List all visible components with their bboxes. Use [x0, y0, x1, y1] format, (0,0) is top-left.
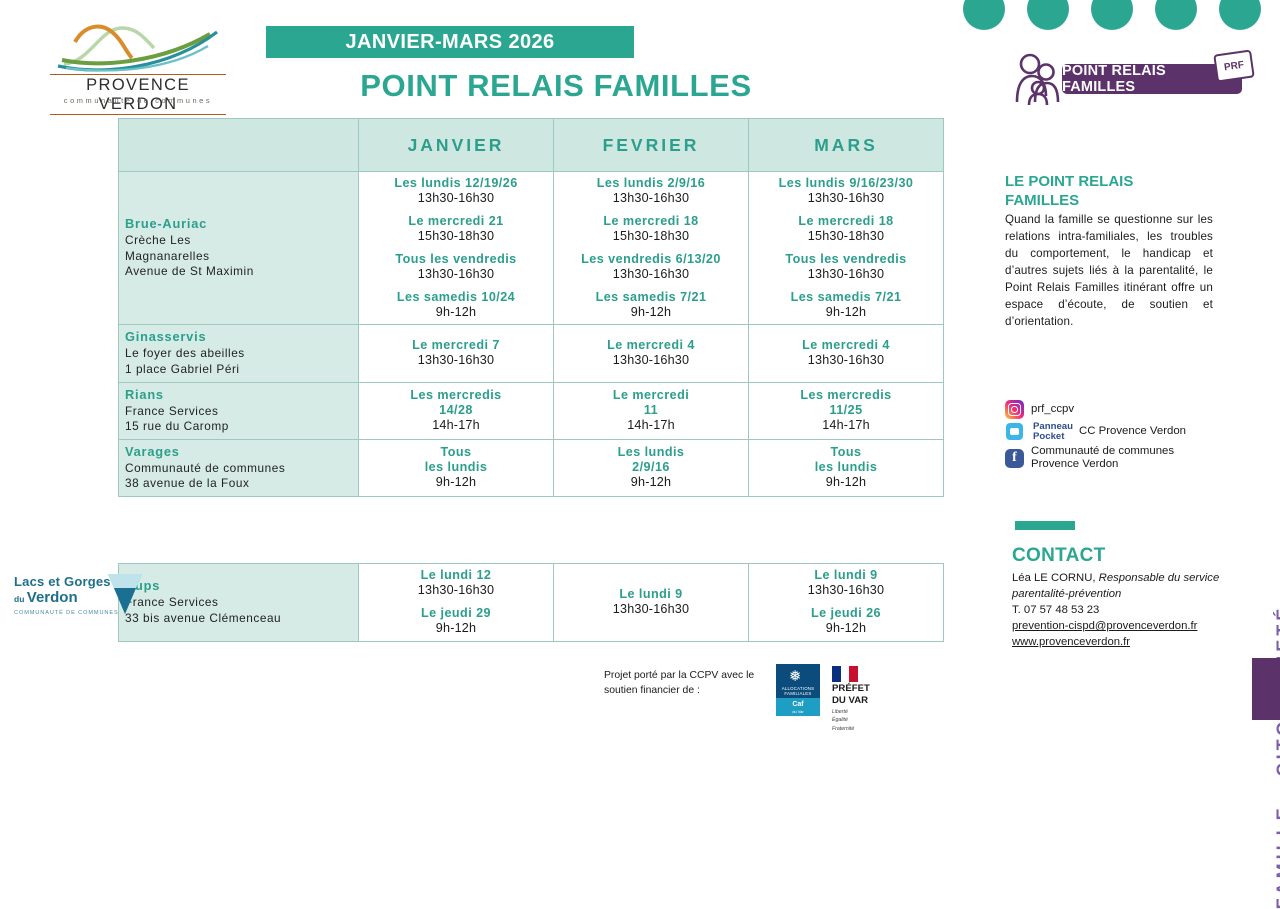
location-town: Rians: [125, 387, 352, 402]
table-row: AupsFrance Services33 bis avenue Clémenc…: [119, 564, 944, 642]
social-row-instagram[interactable]: prf_ccpv: [1005, 400, 1235, 419]
social-label: Communauté de communes Provence Verdon: [1031, 445, 1174, 473]
family-icon: [1010, 52, 1070, 108]
vertical-tagline: FAMILLE - CITOYENNETÉ: [1274, 605, 1280, 909]
slot-day: Le jeudi 26: [755, 606, 937, 621]
slot-day: Tous les vendredis: [365, 252, 547, 267]
prf-tag: PRF: [1213, 49, 1255, 82]
social-row-facebook[interactable]: f Communauté de communes Provence Verdon: [1005, 445, 1235, 473]
schedule-cell: Le mercredi 1114h-17h: [554, 382, 749, 439]
location-town: Brue-Auriac: [125, 216, 352, 231]
slot-hours: 13h30-16h30: [560, 191, 742, 207]
schedule-cell: Le mercredi 413h30-16h30: [749, 325, 944, 382]
slot-day: Le mercredi 4: [755, 338, 937, 353]
purple-accent-block: [1252, 658, 1280, 720]
slot-hours: 13h30-16h30: [560, 353, 742, 369]
schedule-slot: Le mercredi 1815h30-18h30: [560, 214, 742, 245]
schedule-slot: Le mercredi 413h30-16h30: [755, 338, 937, 369]
slot-hours: 13h30-16h30: [560, 602, 742, 618]
location-address-line: France Services: [125, 404, 352, 420]
location-address-line: 38 avenue de la Foux: [125, 476, 352, 492]
schedule-slot: Le lundi 913h30-16h30: [560, 587, 742, 618]
schedule-slot: Le mercredi 1815h30-18h30: [755, 214, 937, 245]
schedule-table: JANVIERFEVRIERMARSBrue-AuriacCrèche LesM…: [118, 118, 944, 497]
schedule-slot: Les mercredis 14/2814h-17h: [365, 388, 547, 434]
slot-day: Les lundis 2/9/16: [560, 445, 742, 475]
page-title: POINT RELAIS FAMILLES: [266, 68, 846, 104]
poster-page: PROVENCE VERDON communauté de communes J…: [0, 0, 1280, 720]
slot-hours: 13h30-16h30: [365, 583, 547, 599]
pp-word-2: Pocket: [1033, 432, 1073, 442]
dot-circle: [963, 0, 1005, 30]
schedule-slot: Tous les vendredis13h30-16h30: [755, 252, 937, 283]
caf-top-text: ALLOCATIONS FAMILIALES: [776, 686, 820, 696]
schedule-cell: Les mercredis 11/2514h-17h: [749, 382, 944, 439]
header-cell-month: JANVIER: [359, 119, 554, 172]
slot-hours: 14h-17h: [365, 418, 547, 434]
schedule-cell: Le lundi 1213h30-16h30Le jeudi 299h-12h: [359, 564, 554, 642]
slot-hours: 9h-12h: [755, 305, 937, 321]
schedule-slot: Les lundis 2/9/169h-12h: [560, 445, 742, 491]
location-address-line: 1 place Gabriel Péri: [125, 362, 352, 378]
slot-day: Les samedis 10/24: [365, 290, 547, 305]
provence-verdon-logo: PROVENCE VERDON communauté de communes: [42, 18, 232, 104]
lacs-gorges-verdon-logo: Lacs et Gorges du Verdon COMMUNAUTÉ DE C…: [6, 566, 134, 628]
schedule-slot: Les samedis 7/219h-12h: [755, 290, 937, 321]
social-label: CC Provence Verdon: [1079, 425, 1186, 439]
contact-title: CONTACT: [1012, 545, 1106, 567]
caf-sub: du Var: [776, 709, 820, 714]
location-cell: Brue-AuriacCrèche LesMagnanarellesAvenue…: [119, 172, 359, 325]
slot-day: Tous les lundis: [755, 445, 937, 475]
lgv-du: du: [14, 594, 24, 604]
french-flag-icon: [832, 666, 858, 682]
prefet-line-1: PRÉFET: [832, 684, 904, 694]
slot-day: Le mercredi 7: [365, 338, 547, 353]
slot-hours: 13h30-16h30: [755, 267, 937, 283]
table-row: VaragesCommunauté de communes38 avenue d…: [119, 439, 944, 496]
schedule-cell: Tous les lundis9h-12h: [749, 439, 944, 496]
contact-phone: T. 07 57 48 53 23: [1012, 604, 1099, 616]
slot-day: Le mercredi 18: [560, 214, 742, 229]
contact-accent-bar: [1015, 521, 1075, 530]
schedule-slot: Tous les vendredis13h30-16h30: [365, 252, 547, 283]
location-cell: AupsFrance Services33 bis avenue Clémenc…: [119, 564, 359, 642]
slot-hours: 9h-12h: [755, 621, 937, 637]
slot-day: Les vendredis 6/13/20: [560, 252, 742, 267]
slot-hours: 9h-12h: [560, 475, 742, 491]
dot-circle: [1027, 0, 1069, 30]
schedule-slot: Les mercredis 11/2514h-17h: [755, 388, 937, 434]
dot-circle: [1091, 0, 1133, 30]
hills-swoosh-icon: [42, 18, 232, 76]
social-row-panneaupocket[interactable]: Panneau Pocket CC Provence Verdon: [1005, 422, 1235, 442]
location-town: Aups: [125, 578, 352, 593]
decorative-dots: [963, 0, 1261, 30]
prefet-motto-3: Fraternité: [832, 726, 904, 733]
slot-hours: 9h-12h: [365, 475, 547, 491]
slot-hours: 13h30-16h30: [365, 353, 547, 369]
schedule-slot: Le jeudi 269h-12h: [755, 606, 937, 637]
slot-day: Les samedis 7/21: [560, 290, 742, 305]
slot-day: Le mercredi 21: [365, 214, 547, 229]
dot-circle: [1219, 0, 1261, 30]
social-label: prf_ccpv: [1031, 403, 1074, 417]
slot-day: Les samedis 7/21: [755, 290, 937, 305]
snowflake-icon: ❅: [789, 669, 807, 685]
prefet-du-var-logo: PRÉFET DU VAR Liberté Égalité Fraternité: [832, 666, 904, 732]
slot-day: Tous les lundis: [365, 445, 547, 475]
panneaupocket-icon: [1005, 422, 1024, 441]
schedule-cell: Le mercredi 713h30-16h30: [359, 325, 554, 382]
schedule-cell: Les lundis 2/9/169h-12h: [554, 439, 749, 496]
prefet-line-2: DU VAR: [832, 696, 904, 706]
location-address-line: Magnanarelles: [125, 249, 352, 265]
slot-hours: 9h-12h: [755, 475, 937, 491]
location-address-line: France Services: [125, 595, 352, 611]
logo-subtitle: communauté de communes: [50, 96, 226, 105]
schedule-cell: Les lundis 12/19/2613h30-16h30Le mercred…: [359, 172, 554, 325]
right-column-body: Quand la famille se questionne sur les r…: [1005, 212, 1213, 330]
slot-day: Tous les vendredis: [755, 252, 937, 267]
slot-hours: 13h30-16h30: [560, 267, 742, 283]
slot-hours: 14h-17h: [560, 418, 742, 434]
slot-day: Le mercredi 4: [560, 338, 742, 353]
location-address-line: Crèche Les: [125, 233, 352, 249]
slot-hours: 15h30-18h30: [560, 229, 742, 245]
schedule-slot: Tous les lundis9h-12h: [365, 445, 547, 491]
lgv-line-2: du Verdon: [14, 589, 78, 606]
schedule-cell: Le lundi 913h30-16h30: [554, 564, 749, 642]
slot-hours: 15h30-18h30: [365, 229, 547, 245]
slot-day: Le lundi 12: [365, 568, 547, 583]
slot-day: Le mercredi 18: [755, 214, 937, 229]
slot-hours: 13h30-16h30: [365, 267, 547, 283]
location-town: Varages: [125, 444, 352, 459]
schedule-cell: Le mercredi 413h30-16h30: [554, 325, 749, 382]
schedule-cell: Les mercredis 14/2814h-17h: [359, 382, 554, 439]
slot-day: Le lundi 9: [560, 587, 742, 602]
table-row: RiansFrance Services15 rue du CarompLes …: [119, 382, 944, 439]
location-address-line: Le foyer des abeilles: [125, 346, 352, 362]
instagram-icon: [1005, 400, 1024, 419]
slot-day: Les lundis 9/16/23/30: [755, 176, 937, 191]
caf-logo: ❅ ALLOCATIONS FAMILIALES Caf du Var: [776, 664, 820, 716]
contact-website[interactable]: www.provenceverdon.fr: [1012, 634, 1237, 650]
schedule-slot: Le mercredi 1114h-17h: [560, 388, 742, 434]
schedule-slot: Le mercredi 413h30-16h30: [560, 338, 742, 369]
slot-hours: 15h30-18h30: [755, 229, 937, 245]
slot-day: Les lundis 12/19/26: [365, 176, 547, 191]
dot-circle: [1155, 0, 1197, 30]
prefet-motto-2: Égalité: [832, 717, 904, 724]
schedule-slot: Tous les lundis9h-12h: [755, 445, 937, 491]
schedule-slot: Le jeudi 299h-12h: [365, 606, 547, 637]
location-cell: GinasservisLe foyer des abeilles1 place …: [119, 325, 359, 382]
slot-hours: 13h30-16h30: [365, 191, 547, 207]
schedule-slot: Les samedis 10/249h-12h: [365, 290, 547, 321]
slot-hours: 14h-17h: [755, 418, 937, 434]
location-address-line: Communauté de communes: [125, 461, 352, 477]
slot-day: Le lundi 9: [755, 568, 937, 583]
schedule-cell: Les lundis 9/16/23/3013h30-16h30Le mercr…: [749, 172, 944, 325]
table-header-row: JANVIERFEVRIERMARS: [119, 119, 944, 172]
schedule-slot: Les samedis 7/219h-12h: [560, 290, 742, 321]
funders-block: Projet porté par la CCPV avec le soutien…: [604, 666, 904, 716]
contact-name: Léa LE CORNU,: [1012, 572, 1096, 584]
table-row: Brue-AuriacCrèche LesMagnanarellesAvenue…: [119, 172, 944, 325]
location-address-line: 15 rue du Caromp: [125, 419, 352, 435]
slot-hours: 9h-12h: [365, 621, 547, 637]
prf-logo: POINT RELAIS FAMILLES PRF: [1010, 52, 1248, 108]
location-address-line: Avenue de St Maximin: [125, 264, 352, 280]
facebook-icon: f: [1005, 449, 1024, 468]
slot-day: Les mercredis 14/28: [365, 388, 547, 418]
date-band: JANVIER-MARS 2026: [266, 26, 634, 58]
slot-day: Le mercredi 11: [560, 388, 742, 418]
header-cell-month: MARS: [749, 119, 944, 172]
header-cell-blank: [119, 119, 359, 172]
slot-hours: 13h30-16h30: [755, 583, 937, 599]
lgv-line-3: COMMUNAUTÉ DE COMMUNES: [14, 610, 119, 616]
header-cell-month: FEVRIER: [554, 119, 749, 172]
slot-day: Les lundis 2/9/16: [560, 176, 742, 191]
slot-day: Les mercredis 11/25: [755, 388, 937, 418]
schedule-cell: Les lundis 2/9/1613h30-16h30Le mercredi …: [554, 172, 749, 325]
schedule-cell: Tous les lundis9h-12h: [359, 439, 554, 496]
location-cell: RiansFrance Services15 rue du Caromp: [119, 382, 359, 439]
schedule-slot: Les lundis 2/9/1613h30-16h30: [560, 176, 742, 207]
schedule-slot: Le mercredi 2115h30-18h30: [365, 214, 547, 245]
slot-day: Le jeudi 29: [365, 606, 547, 621]
contact-email[interactable]: prevention-cispd@provenceverdon.fr: [1012, 618, 1237, 634]
caf-name: Caf: [776, 701, 820, 708]
table-row: GinasservisLe foyer des abeilles1 place …: [119, 325, 944, 382]
slot-hours: 13h30-16h30: [755, 191, 937, 207]
slot-hours: 13h30-16h30: [755, 353, 937, 369]
funding-text: Projet porté par la CCPV avec le soutien…: [604, 668, 764, 698]
contact-details: Léa LE CORNU, Responsable du service par…: [1012, 570, 1237, 650]
v-mountain-icon: [106, 572, 144, 616]
right-column-title: LE POINT RELAIS FAMILLES: [1005, 172, 1210, 210]
schedule-slot: Le mercredi 713h30-16h30: [365, 338, 547, 369]
location-cell: VaragesCommunauté de communes38 avenue d…: [119, 439, 359, 496]
schedule-table-extra: AupsFrance Services33 bis avenue Clémenc…: [118, 563, 944, 642]
social-links: prf_ccpv Panneau Pocket CC Provence Verd…: [1005, 400, 1235, 475]
panneaupocket-wordmark: Panneau Pocket: [1031, 422, 1073, 442]
schedule-slot: Les lundis 9/16/23/3013h30-16h30: [755, 176, 937, 207]
schedule-slot: Les lundis 12/19/2613h30-16h30: [365, 176, 547, 207]
lgv-line-1: Lacs et Gorges: [14, 574, 111, 589]
schedule-slot: Le lundi 1213h30-16h30: [365, 568, 547, 599]
location-address-line: 33 bis avenue Clémenceau: [125, 611, 352, 627]
schedule-cell: Le lundi 913h30-16h30Le jeudi 269h-12h: [749, 564, 944, 642]
slot-hours: 9h-12h: [560, 305, 742, 321]
slot-hours: 9h-12h: [365, 305, 547, 321]
prefet-motto-1: Liberté: [832, 709, 904, 716]
lgv-verdon: Verdon: [27, 589, 78, 606]
schedule-slot: Le lundi 913h30-16h30: [755, 568, 937, 599]
location-town: Ginasservis: [125, 329, 352, 344]
schedule-slot: Les vendredis 6/13/2013h30-16h30: [560, 252, 742, 283]
logo-name: PROVENCE VERDON: [50, 74, 226, 115]
